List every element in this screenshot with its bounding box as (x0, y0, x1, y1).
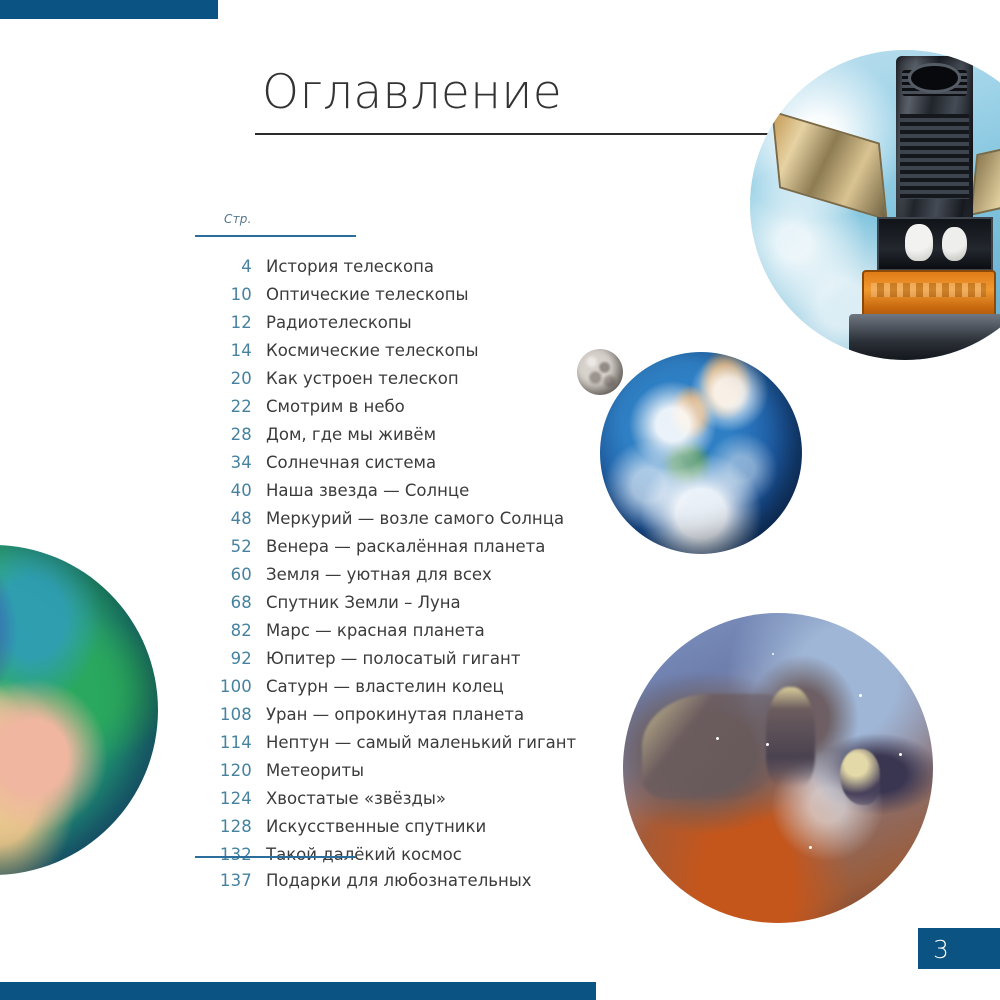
toc-divider (195, 856, 356, 858)
moon-photo (577, 349, 623, 395)
toc-entry[interactable]: 128Искусственные спутники (195, 817, 615, 845)
toc-entry-label: Нептун — самый маленький гигант (266, 733, 576, 752)
toc-entry-extra[interactable]: 137Подарки для любознательных (195, 871, 625, 899)
toc-entry-label: Наша звезда — Солнце (266, 481, 469, 500)
toc-entry-label: Хвостатые «звёзды» (266, 789, 446, 808)
hubble-space-telescope-photo (750, 50, 1000, 360)
toc-entry[interactable]: 92Юпитер — полосатый гигант (195, 649, 615, 677)
toc-entry[interactable]: 68Спутник Земли – Луна (195, 593, 615, 621)
toc-entry[interactable]: 20Как устроен телескоп (195, 369, 615, 397)
hubble-solar-panel-left (771, 110, 888, 221)
toc-entry-page: 92 (195, 649, 252, 668)
toc-entry-page: 14 (195, 341, 252, 360)
page-title: Оглавление (262, 68, 562, 117)
toc-entry-label: Оптические телескопы (266, 285, 469, 304)
toc-entry-page: 48 (195, 509, 252, 528)
table-of-contents: 4История телескопа10Оптические телескопы… (195, 257, 615, 873)
toc-entry-page: 12 (195, 313, 252, 332)
toc-entry-page: 114 (195, 733, 252, 752)
toc-entry-label: Сатурн — властелин колец (266, 677, 504, 696)
toc-entry-label: Юпитер — полосатый гигант (266, 649, 520, 668)
toc-entry[interactable]: 14Космические телескопы (195, 341, 615, 369)
toc-entry-page: 10 (195, 285, 252, 304)
toc-entry[interactable]: 108Уран — опрокинутая планета (195, 705, 615, 733)
toc-entry-label: Смотрим в небо (266, 397, 405, 416)
astronaut-figure (905, 224, 933, 261)
toc-entry-page: 82 (195, 621, 252, 640)
star-speck (716, 737, 719, 740)
toc-entry-page: 100 (195, 677, 252, 696)
toc-entry-label: Уран — опрокинутая планета (266, 705, 524, 724)
page-column-header: Стр. (224, 212, 252, 226)
toc-entry-page: 4 (195, 257, 252, 276)
toc-entry-label: Радиотелескопы (266, 313, 412, 332)
hubble-aperture (911, 66, 958, 91)
toc-entry-label: Марс — красная планета (266, 621, 485, 640)
nebula-dust-ridge (642, 694, 778, 799)
nebula-photo (623, 613, 933, 923)
title-rule (255, 133, 792, 135)
toc-entry-label: Подарки для любознательных (266, 871, 532, 890)
star-speck (766, 743, 769, 746)
toc-entry-label: Земля — уютная для всех (266, 565, 492, 584)
toc-entry[interactable]: 12Радиотелескопы (195, 313, 615, 341)
toc-entry-page: 34 (195, 453, 252, 472)
toc-entry-page: 128 (195, 817, 252, 836)
top-accent-bar (0, 0, 218, 19)
toc-entry[interactable]: 34Солнечная система (195, 453, 615, 481)
toc-entry-label: Спутник Земли – Луна (266, 593, 461, 612)
star-speck (772, 653, 774, 655)
toc-entry-page: 108 (195, 705, 252, 724)
toc-entry-label: История телескопа (266, 257, 434, 276)
star-speck (859, 694, 862, 697)
toc-entry[interactable]: 82Марс — красная планета (195, 621, 615, 649)
toc-entry[interactable]: 120Метеориты (195, 761, 615, 789)
toc-entry[interactable]: 22Смотрим в небо (195, 397, 615, 425)
toc-entry-label: Искусственные спутники (266, 817, 486, 836)
bottom-accent-bar (0, 982, 596, 1000)
hubble-base-structure (849, 314, 1000, 361)
toc-entry-page: 137 (195, 871, 252, 890)
toc-entry[interactable]: 48Меркурий — возле самого Солнца (195, 509, 615, 537)
star-speck (899, 753, 902, 756)
earth-photo (600, 352, 802, 554)
toc-entry-page: 124 (195, 789, 252, 808)
toc-entry-page: 60 (195, 565, 252, 584)
nebula-globule (840, 749, 880, 805)
table-of-contents-extra: 137Подарки для любознательных (195, 871, 625, 899)
page-column-rule (195, 235, 356, 237)
toc-entry[interactable]: 40Наша звезда — Солнце (195, 481, 615, 509)
page-number-badge: 3 (918, 928, 1000, 969)
toc-entry[interactable]: 124Хвостатые «звёзды» (195, 789, 615, 817)
page-number-label: 3 (933, 935, 949, 964)
toc-entry-page: 120 (195, 761, 252, 780)
toc-entry[interactable]: 10Оптические телескопы (195, 285, 615, 313)
nebula-pillar (766, 687, 816, 786)
hubble-instrument-bay (877, 217, 993, 271)
toc-entry[interactable]: 4История телескопа (195, 257, 615, 285)
toc-entry[interactable]: 132Такой далёкий космос (195, 845, 615, 873)
toc-entry[interactable]: 28Дом, где мы живём (195, 425, 615, 453)
toc-entry-label: Дом, где мы живём (266, 425, 436, 444)
toc-entry-label: Как устроен телескоп (266, 369, 459, 388)
toc-entry[interactable]: 60Земля — уютная для всех (195, 565, 615, 593)
hubble-solar-panel-right (970, 130, 1000, 215)
toc-entry-page: 132 (195, 845, 252, 864)
toc-entry-page: 22 (195, 397, 252, 416)
toc-entry-page: 28 (195, 425, 252, 444)
toc-entry[interactable]: 100Сатурн — властелин колец (195, 677, 615, 705)
toc-entry-label: Космические телескопы (266, 341, 479, 360)
toc-entry-label: Солнечная система (266, 453, 436, 472)
toc-entry[interactable]: 52Венера — раскалённая планета (195, 537, 615, 565)
toc-entry-label: Меркурий — возле самого Солнца (266, 509, 564, 528)
toc-entry-page: 52 (195, 537, 252, 556)
astronaut-figure-2 (942, 227, 967, 261)
toc-entry-label: Метеориты (266, 761, 364, 780)
toc-entry-label: Венера — раскалённая планета (266, 537, 545, 556)
star-speck (809, 846, 812, 849)
toc-entry-page: 68 (195, 593, 252, 612)
toc-entry-label: Такой далёкий космос (266, 845, 462, 864)
toc-entry-page: 40 (195, 481, 252, 500)
toc-entry[interactable]: 114Нептун — самый маленький гигант (195, 733, 615, 761)
venus-radar-map-photo (0, 545, 158, 875)
toc-entry-page: 20 (195, 369, 252, 388)
